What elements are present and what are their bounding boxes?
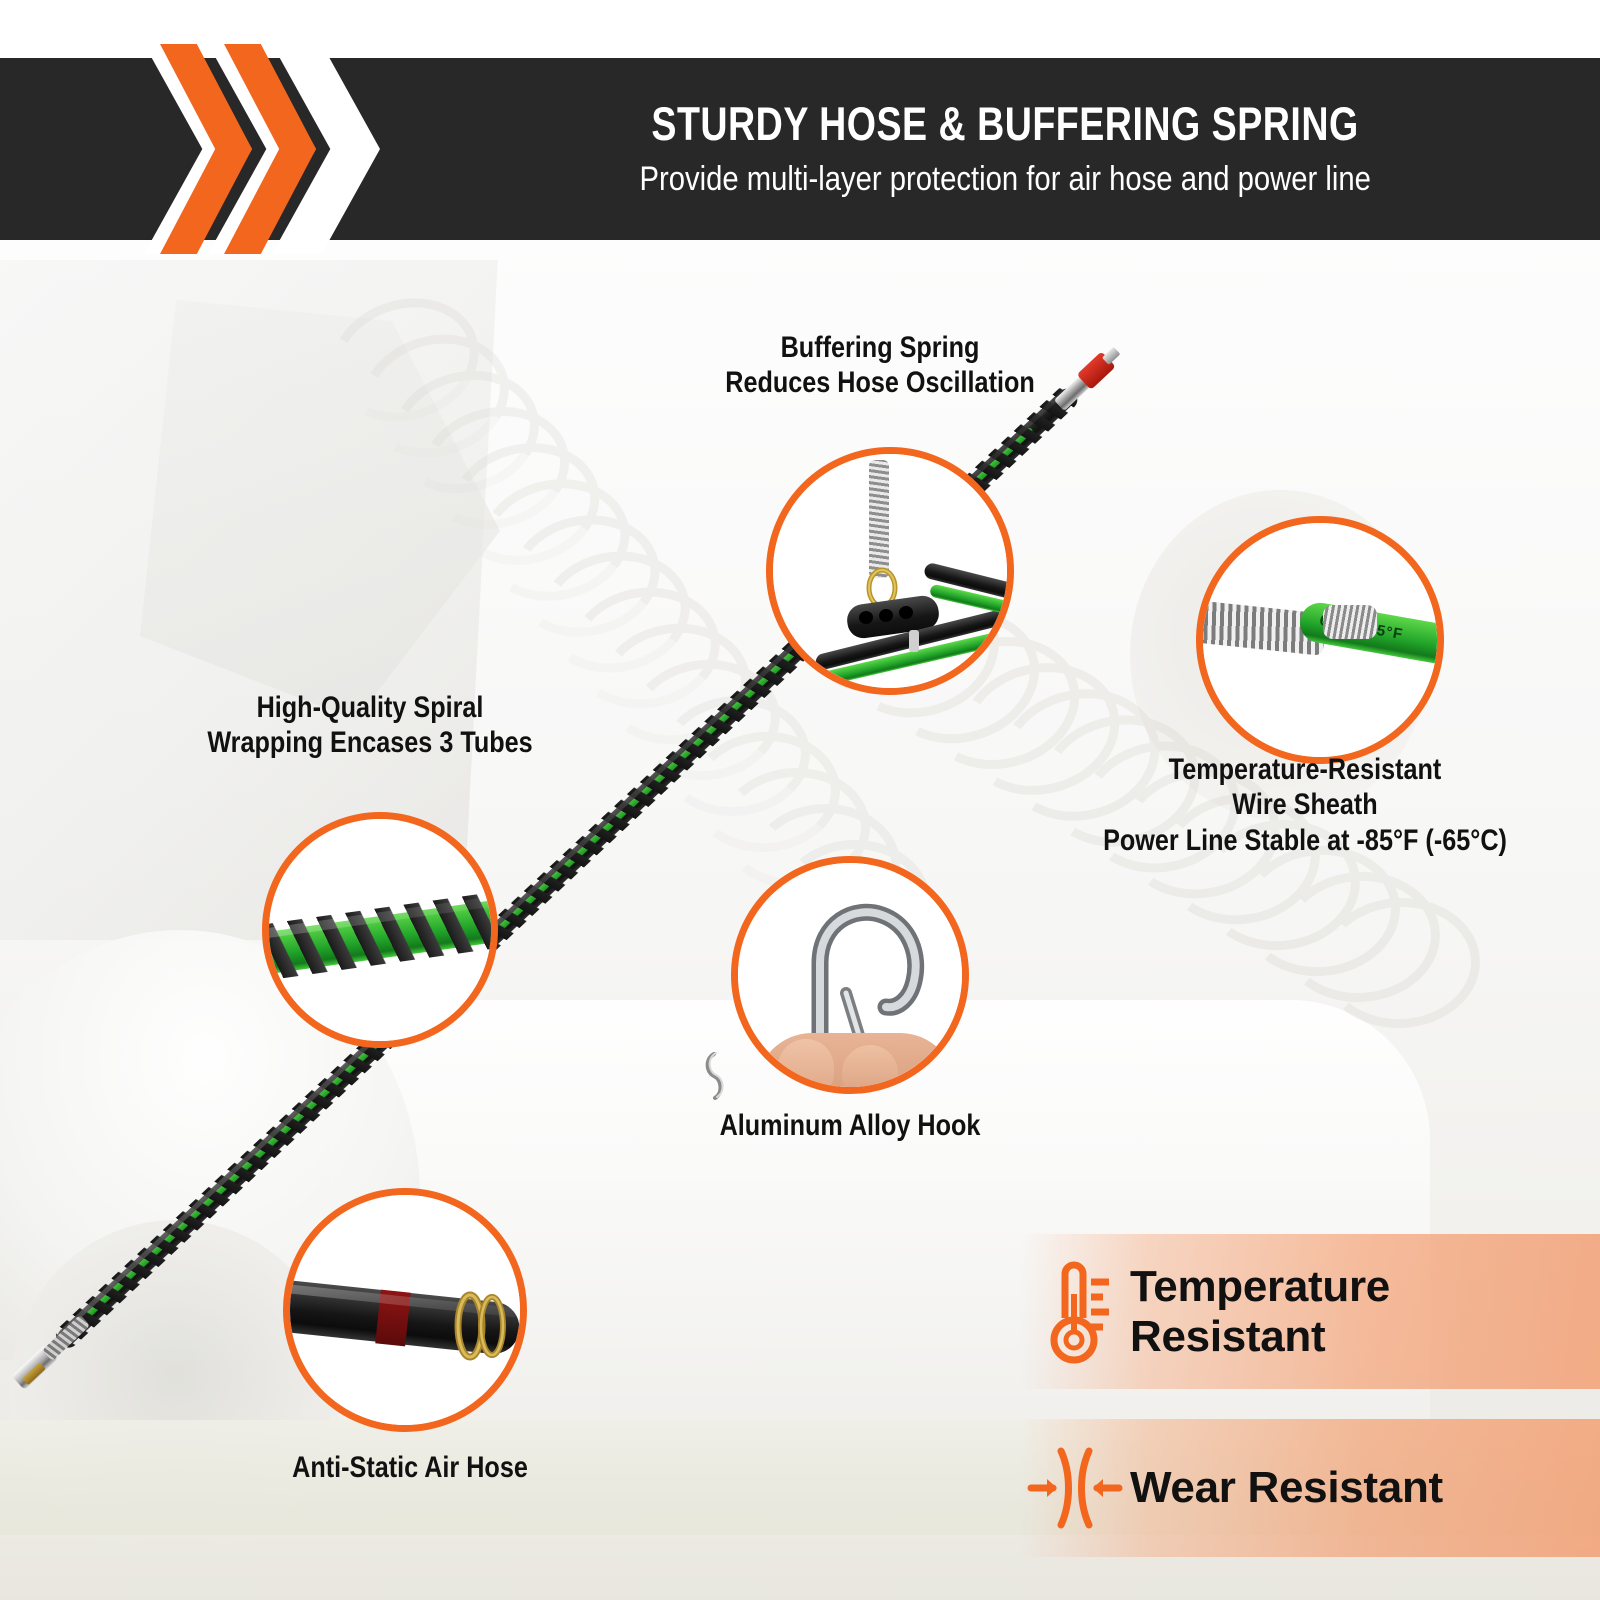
callout-image-buffering-spring (766, 447, 1014, 695)
callout-image-spiral-wrapping (262, 812, 498, 1048)
callout-label-aluminum-hook: Aluminum Alloy Hook (640, 1108, 1060, 1143)
header-title: STURDY HOSE & BUFFERING SPRING (651, 99, 1358, 148)
callout-label-buffering-spring: Buffering Spring Reduces Hose Oscillatio… (640, 330, 1120, 401)
badge-wear-resistant-label: Wear Resistant (1130, 1463, 1443, 1512)
callout-label-spiral-wrapping: High-Quality Spiral Wrapping Encases 3 T… (160, 690, 580, 761)
callout-image-temperature-sheath: 65°C/-85°F (1196, 516, 1444, 764)
infographic-canvas: STURDY HOSE & BUFFERING SPRING Provide m… (0, 0, 1600, 1600)
header-banner: STURDY HOSE & BUFFERING SPRING Provide m… (0, 58, 1600, 240)
thermometer-icon (1020, 1256, 1130, 1368)
callout-image-aluminum-hook (731, 856, 969, 1094)
metal-clip-icon (700, 1050, 734, 1102)
header-subtitle: Provide multi-layer protection for air h… (639, 160, 1370, 199)
badge-wear-resistant: Wear Resistant (1020, 1419, 1600, 1557)
callout-image-anti-static-hose (283, 1188, 527, 1432)
double-chevron-icon (150, 58, 360, 240)
abrasion-arrows-icon (1020, 1445, 1130, 1531)
hose-end-chrome-ferrule (10, 1312, 92, 1391)
badge-temperature-resistant-label: Temperature Resistant (1130, 1262, 1390, 1361)
callout-label-temperature-sheath: Temperature-Resistant Wire Sheath Power … (1045, 752, 1565, 858)
badge-temperature-resistant: Temperature Resistant (1020, 1234, 1600, 1389)
callout-label-anti-static-hose: Anti-Static Air Hose (200, 1450, 620, 1485)
